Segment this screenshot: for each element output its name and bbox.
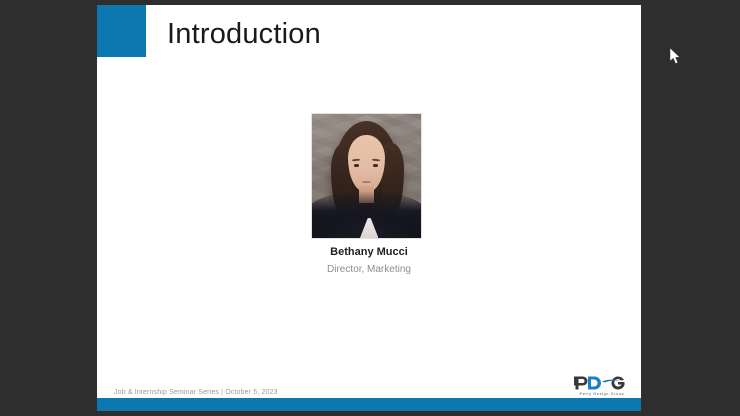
portrait-brow-left	[352, 158, 360, 161]
mouse-pointer-icon	[670, 48, 682, 66]
title-accent-block	[97, 5, 146, 57]
portrait-eye-right	[373, 164, 378, 166]
screen-root: Introduction Bethany Mucci Director, Mar…	[0, 0, 740, 416]
page-title: Introduction	[167, 18, 321, 51]
headshot-portrait-image	[312, 114, 421, 238]
pdg-logo-tagline: Perry Design Group	[572, 392, 633, 396]
pdg-logo: Perry Design Group	[572, 375, 632, 399]
portrait-photo-frame	[312, 114, 421, 238]
footer-accent-bar	[97, 398, 641, 411]
person-name: Bethany Mucci	[97, 246, 641, 258]
person-role: Director, Marketing	[97, 264, 641, 275]
pdg-logo-mark	[572, 375, 632, 391]
presentation-slide[interactable]: Introduction Bethany Mucci Director, Mar…	[97, 5, 641, 411]
portrait-eye-left	[354, 164, 359, 166]
portrait-brow-right	[372, 158, 380, 161]
footer-caption: Job & Internship Seminar Series | Octobe…	[114, 389, 278, 396]
